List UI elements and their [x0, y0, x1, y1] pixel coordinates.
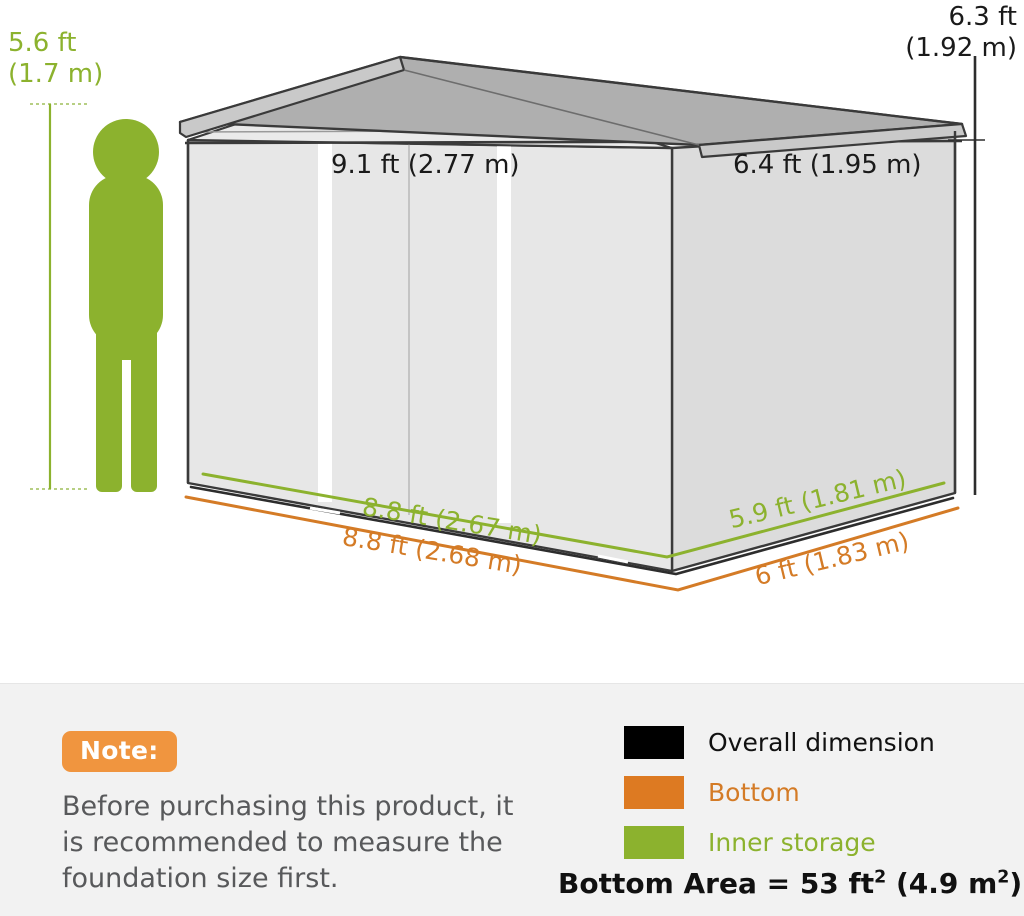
person-height-dimension	[30, 104, 88, 489]
shed-illustration-panel: 5.6 ft (1.7 m) 6.3 ft (1.92 m) 9.1 ft (2…	[0, 0, 1024, 683]
bottom-area-prefix: Bottom Area = 53 ft	[558, 867, 874, 900]
legend-swatch-inner-storage	[624, 826, 684, 859]
legend-item-bottom: Bottom	[624, 767, 935, 817]
person-height-feet: 5.6 ft	[8, 28, 77, 58]
person-silhouette-icon	[89, 119, 163, 492]
note-text: Before purchasing this product, it is re…	[62, 789, 532, 897]
legend-item-overall-dimension: Overall dimension	[624, 717, 935, 767]
bottom-area-summary: Bottom Area = 53 ft2 (4.9 m2)	[558, 867, 1022, 900]
bottom-area-sup1: 2	[874, 868, 886, 888]
overall-height-feet: 6.3 ft	[948, 2, 1017, 32]
legend-label-inner-storage: Inner storage	[708, 828, 876, 857]
person-height-meters: (1.7 m)	[8, 59, 103, 90]
legend: Overall dimension Bottom Inner storage	[624, 717, 935, 867]
person-height-label: 5.6 ft (1.7 m)	[8, 28, 103, 89]
legend-swatch-overall-dimension	[624, 726, 684, 759]
info-panel: Note: Before purchasing this product, it…	[0, 683, 1024, 916]
side-width-label: 6.4 ft (1.95 m)	[733, 150, 922, 181]
dimension-diagram-page: 5.6 ft (1.7 m) 6.3 ft (1.92 m) 9.1 ft (2…	[0, 0, 1024, 915]
legend-label-overall-dimension: Overall dimension	[708, 728, 935, 757]
bottom-area-middle: (4.9 m	[886, 867, 997, 900]
bottom-area-sup2: 2	[997, 868, 1009, 888]
overall-height-meters: (1.92 m)	[905, 33, 1017, 64]
legend-swatch-bottom	[624, 776, 684, 809]
note-block: Note: Before purchasing this product, it…	[62, 731, 542, 897]
legend-item-inner-storage: Inner storage	[624, 817, 935, 867]
overall-height-label: 6.3 ft (1.92 m)	[905, 2, 1017, 63]
shed-drawing	[0, 0, 1024, 683]
legend-label-bottom: Bottom	[708, 778, 800, 807]
front-width-label: 9.1 ft (2.77 m)	[331, 150, 520, 181]
note-badge: Note:	[62, 731, 177, 772]
bottom-area-suffix: )	[1009, 867, 1022, 900]
